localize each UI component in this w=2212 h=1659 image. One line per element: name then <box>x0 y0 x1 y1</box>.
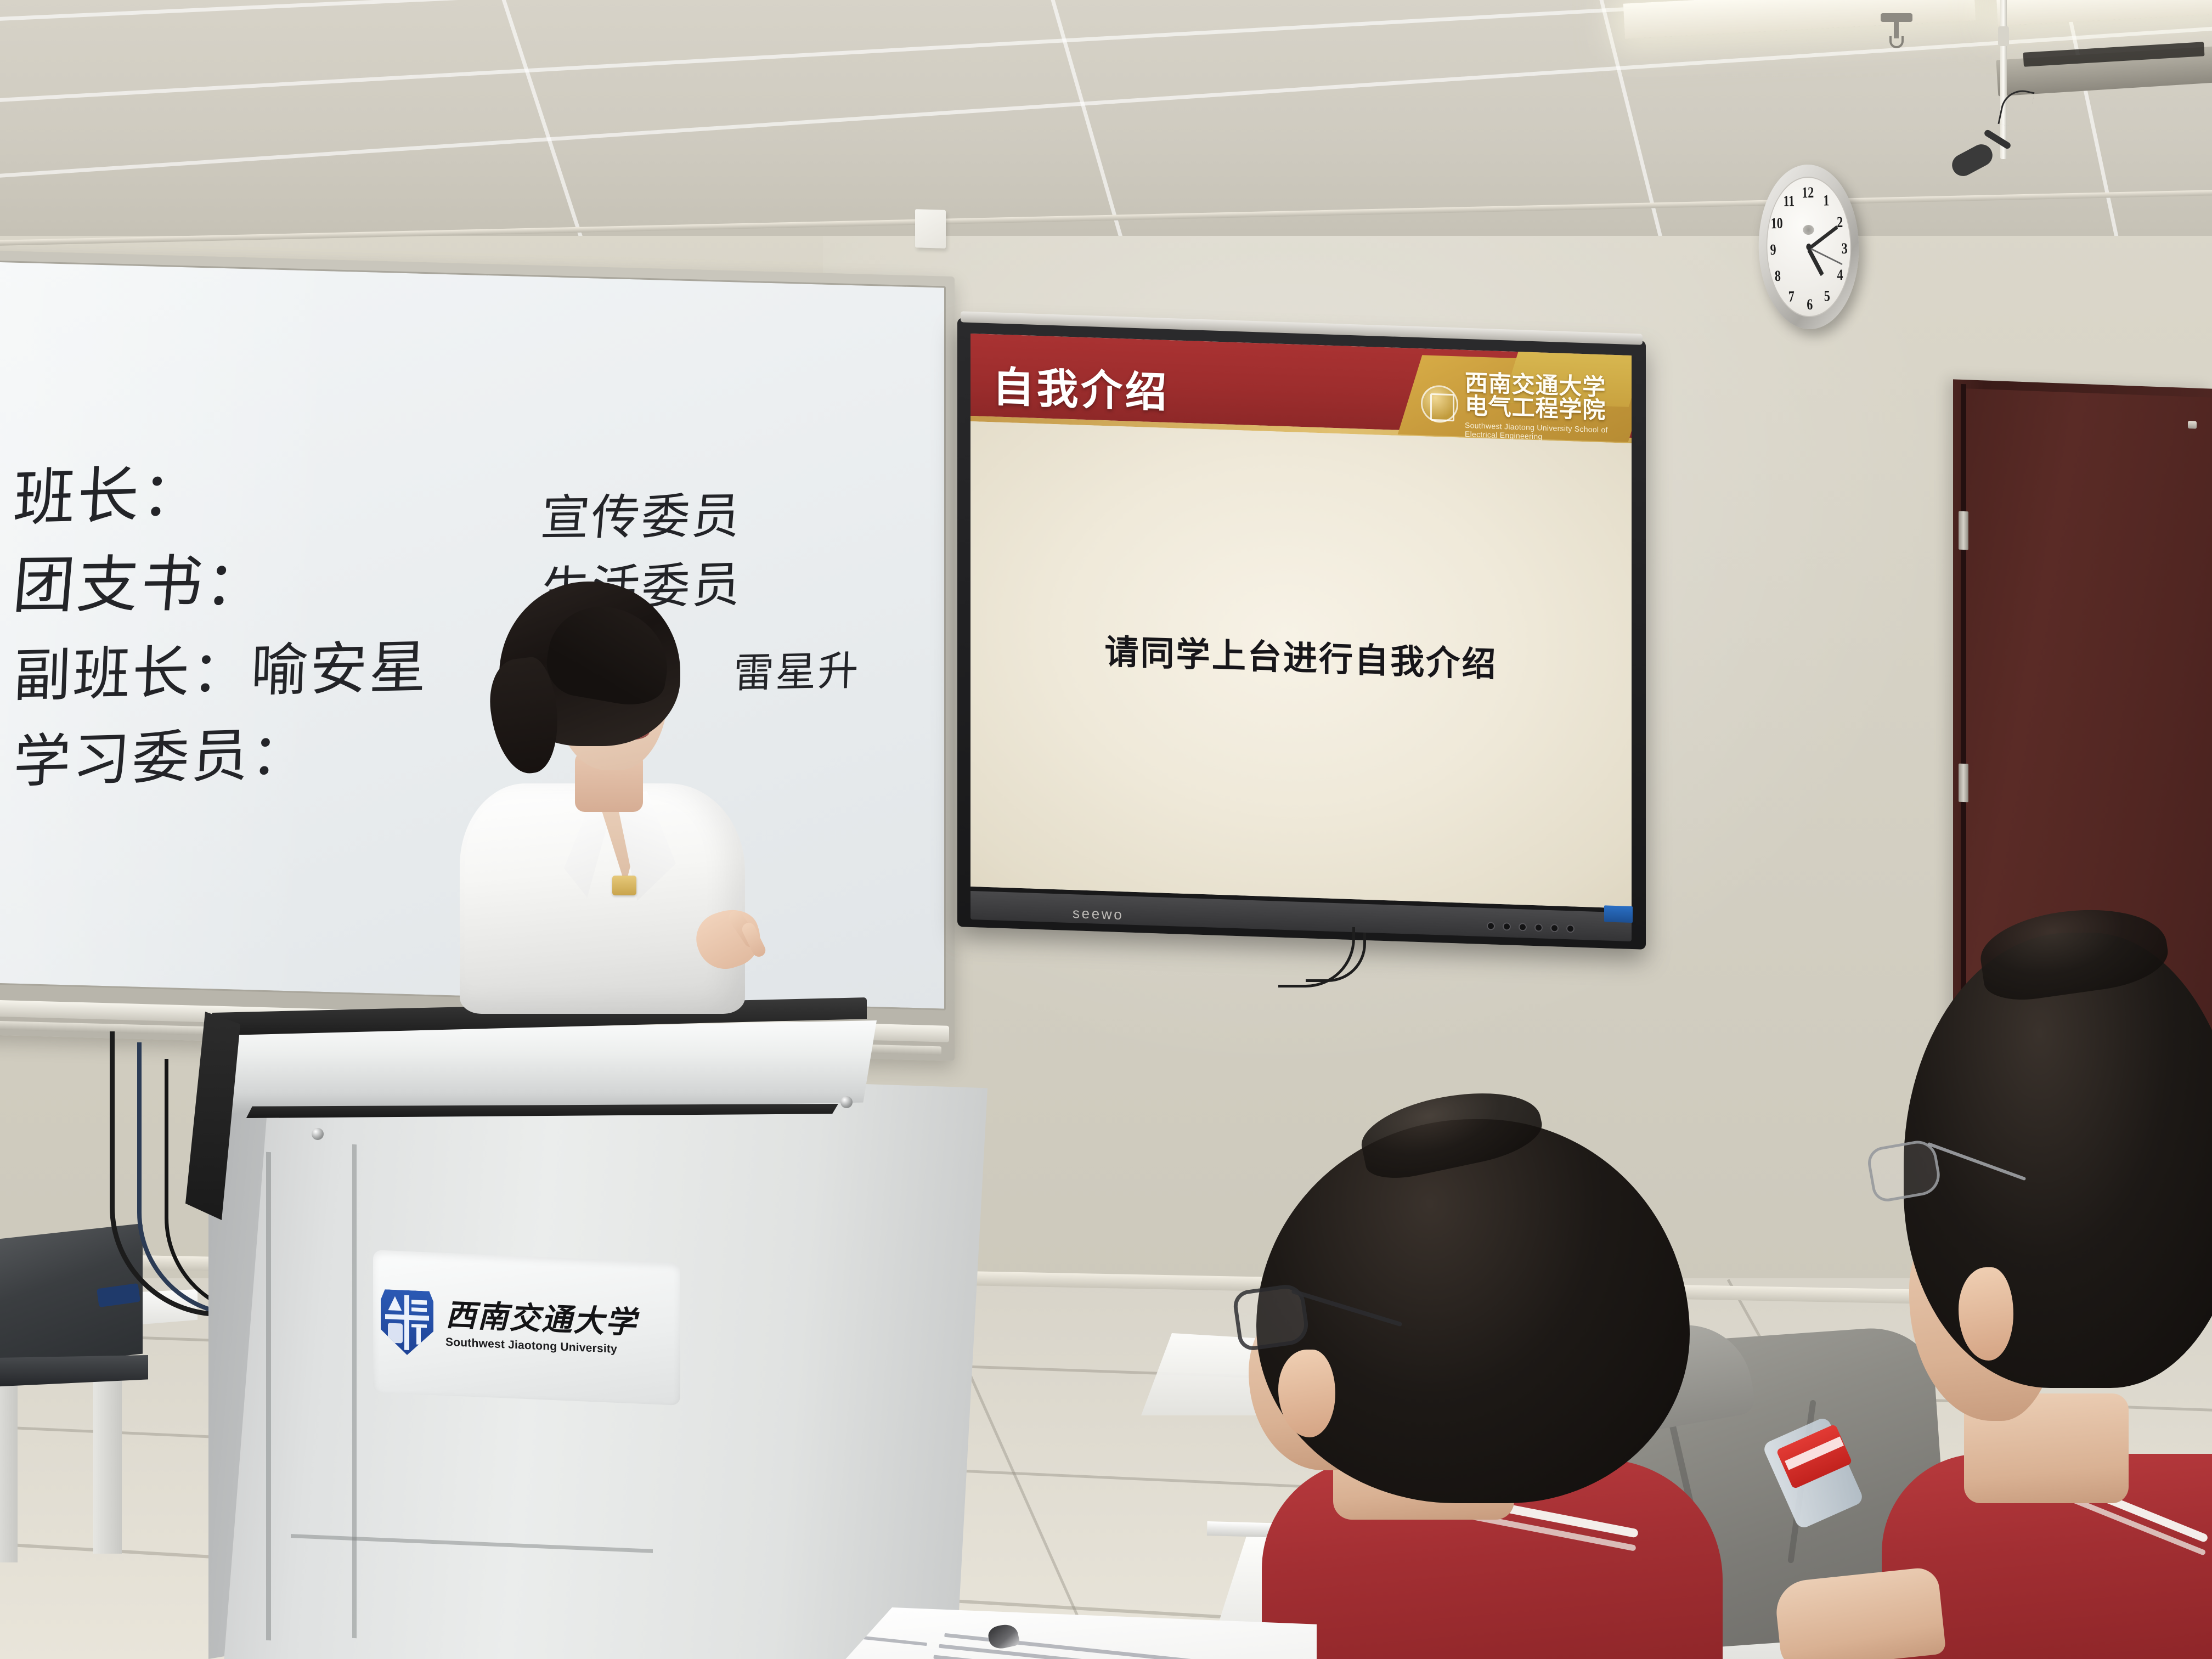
podium-screw-icon <box>312 1128 324 1140</box>
ceiling-mic-pole <box>2000 0 2007 159</box>
swjtu-shield-icon <box>381 1289 433 1356</box>
presenter-speaker <box>439 582 823 1009</box>
display-screen[interactable]: 自我介绍 ❮ 西南交通大学 电气工程学院 Southwest Jiaotong … <box>970 334 1632 909</box>
clock-numeral: 7 <box>1788 288 1795 306</box>
clock-numeral: 3 <box>1841 240 1847 258</box>
podium-university-plaque: 西南交通大学 Southwest Jiaotong University <box>373 1250 680 1405</box>
clock-numeral: 6 <box>1807 296 1813 314</box>
wall-clock: 12 1 2 3 4 5 6 7 8 9 10 11 <box>1743 163 1874 330</box>
slide-logo-cn-text: 西南交通大学 电气工程学院 <box>1465 371 1623 423</box>
clock-center-pin <box>1806 244 1812 250</box>
clock-brand-mark <box>1803 225 1814 235</box>
clock-numeral: 11 <box>1783 193 1795 210</box>
door-hinge-icon <box>1959 511 1968 550</box>
student-front-center <box>1196 1075 1778 1659</box>
podium-worktop <box>201 1020 877 1114</box>
clock-hour-hand <box>1807 248 1824 276</box>
slide-body-text: 请同学上台进行自我介绍 <box>1104 624 1497 686</box>
display-port-icon[interactable] <box>1503 922 1511 930</box>
student-hair <box>1904 933 2212 1388</box>
classroom-scene: 12 1 2 3 4 5 6 7 8 9 10 11 <box>0 0 2212 1659</box>
podium-seam <box>352 1144 357 1638</box>
ceiling-light-panel <box>1996 0 2212 26</box>
lectern-podium: 西南交通大学 Southwest Jiaotong University <box>208 988 988 1659</box>
clock-numeral: 10 <box>1771 215 1783 233</box>
ceiling-light-panel <box>1623 0 1976 39</box>
clock-numeral: 9 <box>1770 241 1776 259</box>
clock-numeral: 1 <box>1823 192 1829 210</box>
clock-numeral: 8 <box>1775 268 1781 285</box>
whiteboard-note: 班长： <box>12 443 207 538</box>
display-port-icon[interactable] <box>1519 923 1527 931</box>
display-sticker <box>1604 905 1633 923</box>
display-port-icon[interactable] <box>1566 924 1575 933</box>
door-screw-icon <box>2188 421 2197 429</box>
student-hair <box>1256 1119 1690 1503</box>
whiteboard-note: 团支书： <box>10 534 273 625</box>
podium-plaque-cn: 西南交通大学 <box>445 1300 637 1339</box>
podium-screw-icon <box>840 1096 853 1108</box>
clock-numeral: 2 <box>1837 214 1843 232</box>
whiteboard-note: 宣传委员 <box>539 477 746 549</box>
interactive-flat-panel[interactable]: 自我介绍 ❮ 西南交通大学 电气工程学院 Southwest Jiaotong … <box>957 318 1646 950</box>
clock-numeral: 4 <box>1837 267 1843 284</box>
whiteboard-note: 学习委员： <box>12 707 312 798</box>
university-seal-icon <box>1421 385 1458 423</box>
podium-seam <box>266 1152 271 1640</box>
slide-body: 请同学上台进行自我介绍 <box>970 421 1632 909</box>
display-port-icon[interactable] <box>1487 922 1495 930</box>
display-port-icon[interactable] <box>1550 924 1559 932</box>
presenter-gold-clasp <box>612 876 636 895</box>
door-hinge-icon <box>1959 764 1968 803</box>
student-front-right <box>1799 927 2212 1659</box>
whiteboard-note: 副班长：喻安星 <box>13 620 431 713</box>
slide-title: 自我介绍 <box>992 353 1169 419</box>
student-hand <box>1773 1566 1946 1659</box>
clock-numeral: 12 <box>1802 184 1814 202</box>
clock-numeral: 5 <box>1824 287 1830 305</box>
light-switch-plate[interactable] <box>915 209 946 249</box>
slide-university-logo: 西南交通大学 电气工程学院 Southwest Jiaotong Univers… <box>1421 379 1623 434</box>
display-port-icon[interactable] <box>1534 923 1543 932</box>
display-brand-label: seewo <box>1073 905 1124 923</box>
